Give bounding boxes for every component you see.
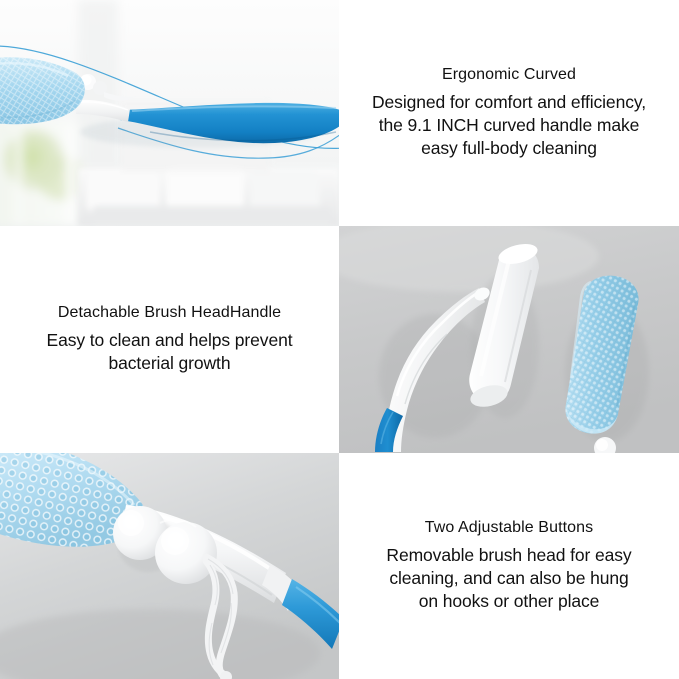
- buttons-body-line-1: Removable brush head for easy: [386, 544, 631, 567]
- panel-ergonomic-text: Ergonomic Curved Designed for comfort an…: [339, 0, 679, 226]
- parts-illustration: [339, 226, 679, 453]
- detachable-body-line-1: Easy to clean and helps prevent: [47, 329, 293, 352]
- buttons-body-line-3: on hooks or other place: [386, 590, 631, 613]
- curved-bath-brush-photo: [0, 0, 339, 226]
- buttons-body-line-2: cleaning, and can also be hung: [386, 567, 631, 590]
- ergonomic-body-line-3: easy full-body cleaning: [372, 137, 646, 160]
- panel-buttons-text: Two Adjustable Buttons Removable brush h…: [339, 453, 679, 679]
- buttons-heading: Two Adjustable Buttons: [425, 519, 594, 537]
- detachable-heading: Detachable Brush HeadHandle: [58, 304, 281, 322]
- detachable-body-line-2: bacterial growth: [47, 352, 293, 375]
- ergonomic-body-line-2: the 9.1 INCH curved handle make: [372, 114, 646, 137]
- product-infographic-grid: Ergonomic Curved Designed for comfort an…: [0, 0, 679, 679]
- curved-brush-illustration: [0, 0, 339, 226]
- panel-detachable-text: Detachable Brush HeadHandle Easy to clea…: [0, 226, 339, 453]
- buttons-body: Removable brush head for easy cleaning, …: [386, 544, 631, 613]
- ergonomic-body: Designed for comfort and efficiency, the…: [372, 91, 646, 160]
- ergonomic-body-line-1: Designed for comfort and efficiency,: [372, 91, 646, 114]
- disassembled-parts-photo: [339, 226, 679, 453]
- adjustable-buttons-closeup-photo: [0, 453, 339, 679]
- ergonomic-heading: Ergonomic Curved: [442, 66, 576, 84]
- buttons-illustration: [0, 453, 339, 679]
- detachable-body: Easy to clean and helps prevent bacteria…: [47, 329, 293, 375]
